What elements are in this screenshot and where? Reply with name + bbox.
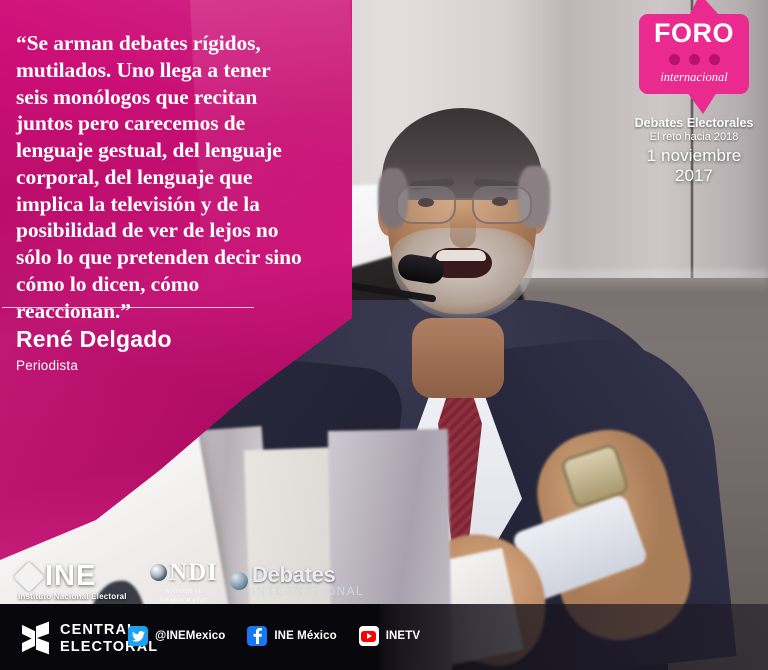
- event-date: 1 noviembre 2017: [630, 146, 758, 186]
- facebook-icon: [247, 626, 267, 646]
- debates-international-logo: Debates INTERNATIONAL: [230, 564, 364, 599]
- ine-diamond-icon: [13, 561, 44, 592]
- speaker-name: René Delgado: [16, 326, 172, 353]
- ine-logo: INE: [18, 562, 96, 591]
- foro-logo: FORO internacional Debates Electorales E…: [630, 14, 758, 186]
- facebook-handle: INE México: [274, 630, 336, 642]
- event-tagline: El reto hacia 2018: [630, 131, 758, 143]
- neck: [412, 318, 504, 398]
- social-link-youtube[interactable]: INETV: [359, 626, 420, 646]
- ine-wordmark: INE: [45, 562, 96, 591]
- foro-speech-bubble: FORO internacional: [639, 14, 749, 94]
- globe-icon: [230, 572, 248, 590]
- social-link-twitter[interactable]: @INEMexico: [128, 626, 225, 646]
- social-link-facebook[interactable]: INE México: [247, 626, 336, 646]
- debates-wordmark: Debates: [252, 564, 364, 586]
- foro-dots-icon: [639, 54, 749, 65]
- youtube-icon: [359, 626, 379, 646]
- nose: [450, 206, 476, 248]
- central-electoral-mark-icon: [22, 624, 52, 654]
- eyeglass-lens-left: [396, 186, 456, 224]
- speech-bubble-tail-bottom-icon: [687, 92, 717, 114]
- debates-subtitle: INTERNATIONAL: [252, 587, 364, 599]
- poster-canvas: ebates “Se arman debates rígidos, mutila…: [0, 0, 768, 670]
- foro-subtitle: internacional: [639, 70, 749, 85]
- partner-logo-strip: INE Instituto Nacional Electoral NDI NAT…: [0, 556, 420, 608]
- twitter-handle: @INEMexico: [155, 630, 225, 642]
- social-links: @INEMexico INE México INETV: [128, 626, 420, 646]
- eyeglass-lens-right: [472, 186, 532, 224]
- teeth: [436, 250, 486, 261]
- quote-text: “Se arman debates rígidos, mutilados. Un…: [16, 30, 346, 324]
- ndi-wordmark: NDI: [169, 560, 218, 585]
- event-title: Debates Electorales: [630, 116, 758, 130]
- speech-bubble-tail-top-icon: [689, 0, 720, 16]
- globe-icon: [150, 564, 167, 581]
- debates-international-lockup: Debates INTERNATIONAL: [252, 564, 364, 599]
- foro-wordmark: FORO: [639, 18, 749, 49]
- youtube-handle: INETV: [386, 630, 420, 642]
- quote-divider: [2, 307, 254, 308]
- twitter-icon: [128, 626, 148, 646]
- ndi-lockup: NDI: [138, 560, 230, 585]
- ine-subtitle: Instituto Nacional Electoral: [18, 592, 127, 601]
- speaker-role: Periodista: [16, 358, 78, 373]
